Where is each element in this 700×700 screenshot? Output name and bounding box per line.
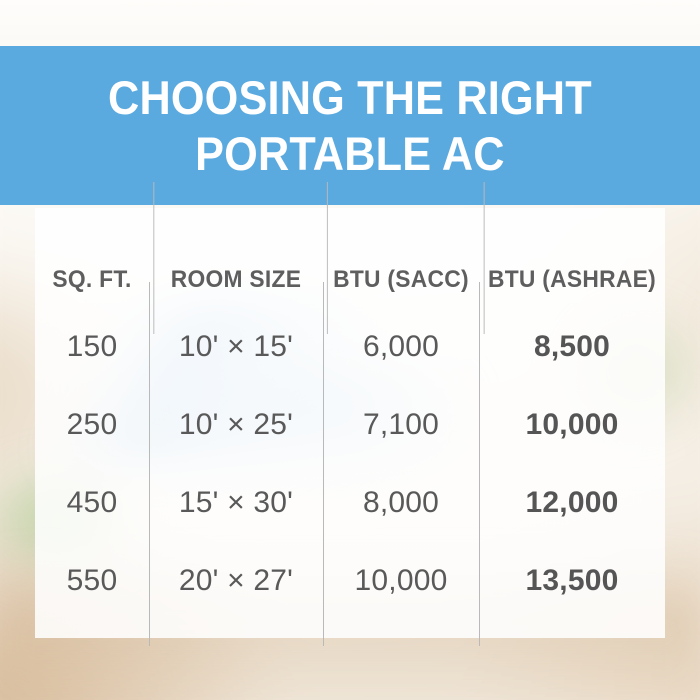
btu-comparison-table: SQ. FT. ROOM SIZE BTU (SACC) BTU (ASHRAE…: [35, 208, 665, 638]
infographic-canvas: CHOOSING THE RIGHT PORTABLE AC SQ. FT. R…: [0, 0, 700, 700]
table-cell-btu-ashrae: 12,000: [479, 464, 665, 542]
table-cell-btu-ashrae: 8,500: [479, 308, 665, 386]
table-cell-sq-ft: 550: [35, 542, 149, 620]
table-cell-room-size: 10' × 15': [149, 308, 323, 386]
table-cell-sq-ft: 150: [35, 308, 149, 386]
table-cell-btu-sacc: 7,100: [323, 386, 479, 464]
table-cell-sq-ft: 250: [35, 386, 149, 464]
table-cell-btu-ashrae: 13,500: [479, 542, 665, 620]
column-header-btu-sacc: BTU (SACC): [327, 208, 475, 308]
table-cell-btu-sacc: 8,000: [323, 464, 479, 542]
table-cell-btu-sacc: 10,000: [323, 542, 479, 620]
table-cell-sq-ft: 450: [35, 464, 149, 542]
column-header-room-size: ROOM SIZE: [153, 208, 318, 308]
table-cell-btu-ashrae: 10,000: [479, 386, 665, 464]
table-cell-room-size: 15' × 30': [149, 464, 323, 542]
column-header-btu-ashrae: BTU (ASHRAE): [484, 208, 661, 308]
table-cell-room-size: 10' × 25': [149, 386, 323, 464]
title-banner: CHOOSING THE RIGHT PORTABLE AC: [0, 46, 700, 205]
table-cell-room-size: 20' × 27': [149, 542, 323, 620]
banner-title: CHOOSING THE RIGHT PORTABLE AC: [92, 70, 609, 181]
table-cell-btu-sacc: 6,000: [323, 308, 479, 386]
column-header-sq-ft: SQ. FT.: [38, 208, 146, 308]
